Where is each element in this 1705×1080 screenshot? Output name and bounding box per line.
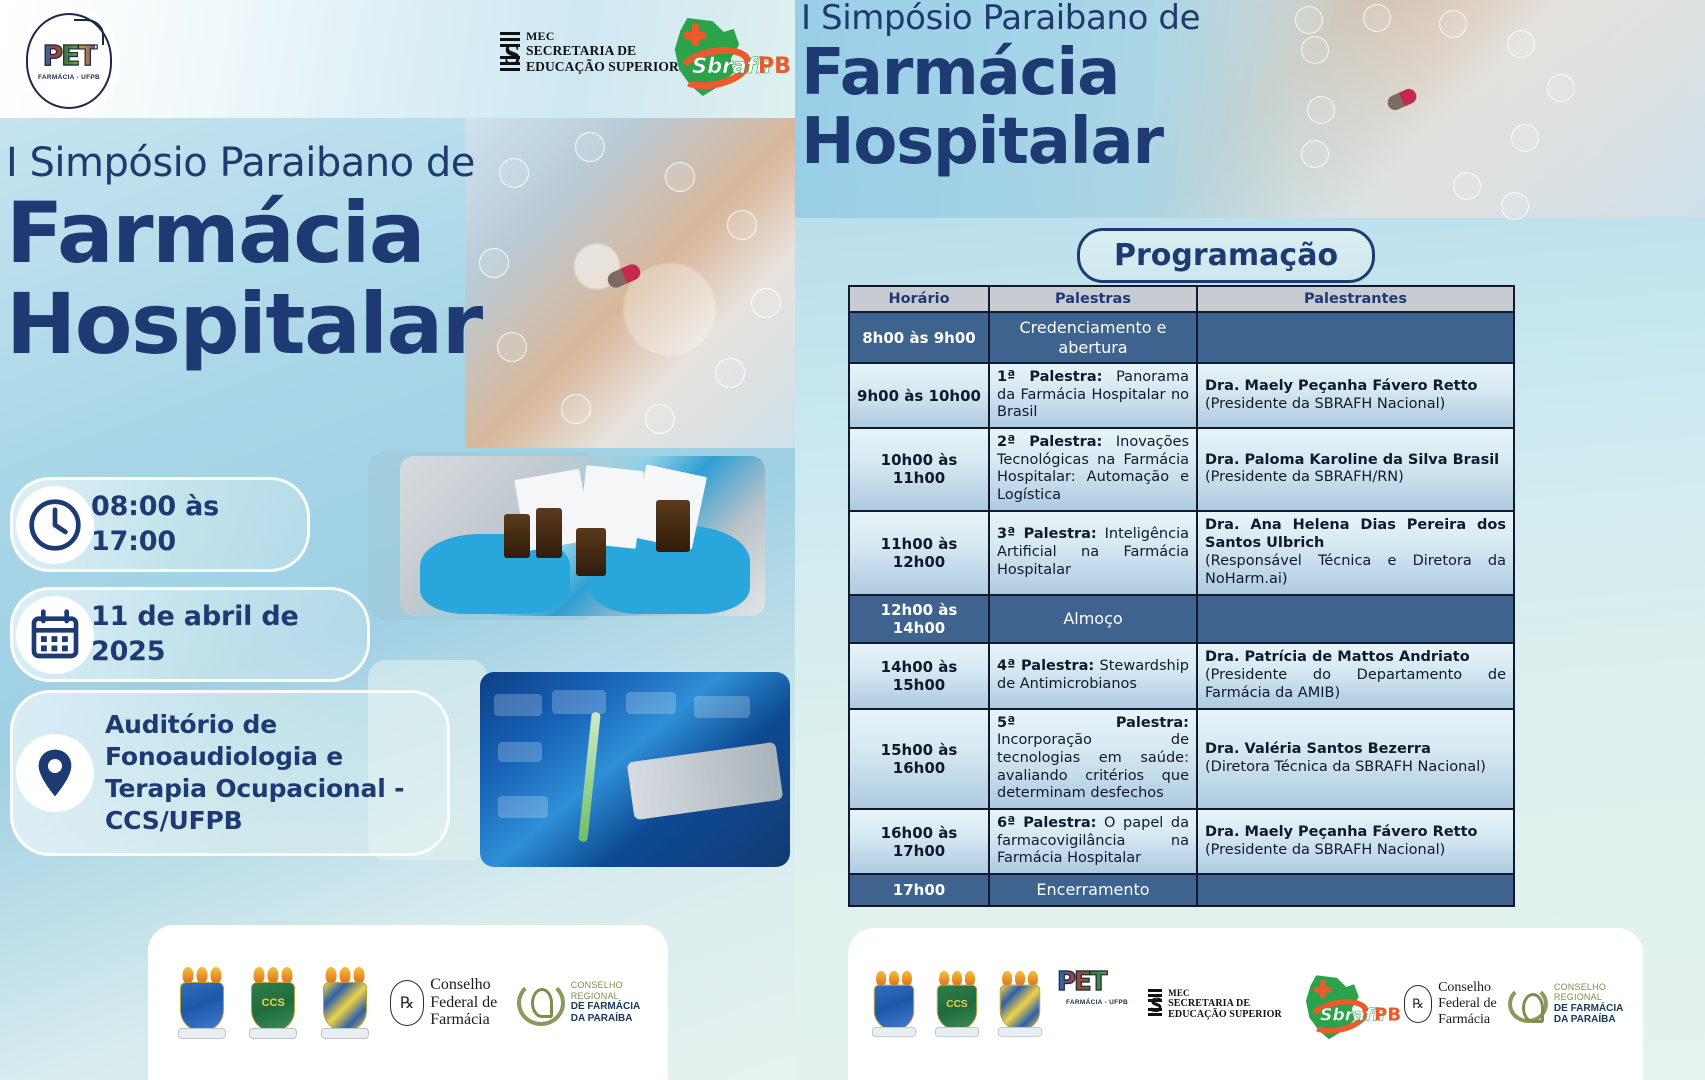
lecture-prefix: 6ª Palestra: <box>997 815 1096 831</box>
event-title-line2: Hospitalar <box>6 281 560 368</box>
cell-lecture: 5ª Palestra: Incorporação de tecnologias… <box>989 709 1197 809</box>
left-footer-logo-bar: ℞ Conselho Federal de Farmácia CONSELHO … <box>148 925 668 1080</box>
cell-lecture: 6ª Palestra: O papel da farmacovigilânci… <box>989 809 1197 874</box>
cell-speaker <box>1197 595 1514 643</box>
mec-logo: S MEC SECRETARIA DE EDUCAÇÃO SUPERIOR <box>500 30 679 74</box>
info-card-date: 11 de abril de 2025 <box>10 587 370 682</box>
mec-line-2: SECRETARIA DE <box>1168 998 1282 1009</box>
table-row: 14h00 às 15h00 4ª Palestra: Stewardship … <box>849 643 1514 709</box>
lecture-prefix: 2ª Palestra: <box>997 434 1102 450</box>
cff-line-1: Conselho <box>430 976 497 994</box>
cell-speaker: Dra. Ana Helena Dias Pereira dos Santos … <box>1197 511 1514 595</box>
sbrafh-suffix: PB <box>1374 1005 1401 1026</box>
event-title-line2: Hospitalar <box>801 109 1331 176</box>
conselho-federal-farmacia-logo: ℞ Conselho Federal de Farmácia <box>1404 980 1497 1027</box>
table-row: 15h00 às 16h00 5ª Palestra: Incorporação… <box>849 709 1514 809</box>
programacao-badge-label: Programação <box>1114 238 1338 273</box>
cell-lecture: 4ª Palestra: Stewardship de Antimicrobia… <box>989 643 1197 709</box>
cell-time: 8h00 às 9h00 <box>849 312 989 363</box>
syringe-icon <box>578 712 601 842</box>
cell-speaker: Dra. Patrícia de Mattos Andriato(Preside… <box>1197 643 1514 709</box>
event-title-line1: Farmácia <box>801 40 1331 107</box>
cell-time: 10h00 às 11h00 <box>849 428 989 511</box>
mec-mark-icon: S <box>1148 989 1162 1019</box>
mec-line-2: SECRETARIA DE <box>526 43 679 58</box>
crf-line-4: DA PARAÍBA <box>571 1013 640 1025</box>
cell-lecture: 2ª Palestra: Inovações Tecnológicas na F… <box>989 428 1197 511</box>
cell-time: 12h00 às 14h00 <box>849 595 989 643</box>
pet-swoosh-icon <box>74 19 104 45</box>
right-footer-logo-bar: PET FARMÁCIA - UFPB S MEC SECRETARIA DE … <box>848 928 1643 1080</box>
event-time-text: 08:00 às 17:00 <box>91 490 277 559</box>
event-pretitle: I Simpósio Paraibano de <box>6 140 560 186</box>
pill-icon <box>1385 87 1419 113</box>
lecture-prefix: 1ª Palestra: <box>997 369 1102 385</box>
table-row: 12h00 às 14h00 Almoço <box>849 595 1514 643</box>
crf-text: CONSELHO REGIONAL DE FARMÁCIA DA PARAÍBA <box>571 980 640 1024</box>
crf-pb-logo: CONSELHO REGIONAL DE FARMÁCIA DA PARAÍBA <box>1508 982 1623 1026</box>
programacao-badge: Programação <box>1077 228 1375 283</box>
sbrafh-suffix: PB <box>758 54 791 79</box>
event-location-text: Auditório de Fonoaudiologia e Terapia Oc… <box>105 709 423 837</box>
mec-line-3: EDUCAÇÃO SUPERIOR <box>526 59 679 74</box>
mec-line-1: MEC <box>526 30 679 43</box>
lecture-text: Incorporação de tecnologias em saúde: av… <box>997 732 1189 801</box>
ufpb-crest-icon <box>176 967 228 1039</box>
cff-line-2: Federal de <box>430 994 497 1012</box>
cell-lecture: Almoço <box>989 595 1197 643</box>
speaker-name: Dra. Paloma Karoline da Silva Brasil <box>1205 452 1506 470</box>
table-row: 8h00 às 9h00 Credenciamento e abertura <box>849 312 1514 363</box>
cell-speaker: Dra. Paloma Karoline da Silva Brasil(Pre… <box>1197 428 1514 511</box>
table-row: 17h00 Encerramento <box>849 874 1514 906</box>
crf-line-3: DE FARMÁCIA <box>571 1001 640 1013</box>
robot-arm-icon <box>627 742 784 820</box>
cff-text: Conselho Federal de Farmácia <box>430 976 497 1030</box>
speaker-role: (Presidente da SBRAFH Nacional) <box>1205 842 1506 860</box>
schedule-table: Horário Palestras Palestrantes 8h00 às 9… <box>848 285 1515 907</box>
speaker-role: (Presidente da SBRAFH/RN) <box>1205 469 1506 487</box>
pet-logo-oval: PET FARMÁCIA - UFPB <box>26 13 112 109</box>
event-title-line1: Farmácia <box>6 190 560 277</box>
table-header-row: Horário Palestras Palestrantes <box>849 286 1514 312</box>
crf-pb-logo: CONSELHO REGIONAL DE FARMÁCIA DA PARAÍBA <box>517 980 640 1026</box>
cff-mark-icon: ℞ <box>1404 985 1432 1023</box>
event-pretitle: I Simpósio Paraibano de <box>801 0 1331 38</box>
crf-line-1: CONSELHO <box>1554 982 1623 992</box>
cff-line-1: Conselho <box>1438 980 1497 996</box>
crf-wreath-icon <box>517 980 565 1026</box>
speaker-role: (Presidente da SBRAFH Nacional) <box>1205 396 1506 414</box>
column-header-palestras: Palestras <box>989 286 1197 312</box>
schedule-table-body: 8h00 às 9h00 Credenciamento e abertura 9… <box>849 312 1514 906</box>
crf-line-2: REGIONAL <box>571 991 640 1001</box>
cell-time: 16h00 às 17h00 <box>849 809 989 874</box>
cell-lecture: 3ª Palestra: Inteligência Artificial na … <box>989 511 1197 595</box>
column-header-palestrantes: Palestrantes <box>1197 286 1514 312</box>
lecture-prefix: 3ª Palestra: <box>997 526 1097 542</box>
mec-line-3: EDUCAÇÃO SUPERIOR <box>1168 1009 1282 1020</box>
poster-canvas: PET FARMÁCIA - UFPB S MEC SECRETARIA DE … <box>0 0 1705 1080</box>
speaker-name: Dra. Maely Peçanha Fávero Retto <box>1205 378 1506 396</box>
sbrafh-cross-icon <box>684 24 706 46</box>
cell-lecture: Credenciamento e abertura <box>989 312 1197 363</box>
farmacia-crest-icon <box>319 967 371 1039</box>
location-pin-icon <box>16 734 94 812</box>
crf-line-3: DE FARMÁCIA <box>1554 1003 1623 1015</box>
ufpb-crest-icon <box>870 971 918 1037</box>
cell-lecture: 1ª Palestra: Panorama da Farmácia Hospit… <box>989 363 1197 428</box>
cell-time: 14h00 às 15h00 <box>849 643 989 709</box>
table-row: 16h00 às 17h00 6ª Palestra: O papel da f… <box>849 809 1514 874</box>
right-title-block: I Simpósio Paraibano de Farmácia Hospita… <box>801 0 1331 176</box>
speaker-name: Dra. Valéria Santos Bezerra <box>1205 741 1506 759</box>
cff-line-3: Farmácia <box>430 1011 497 1029</box>
event-date-text: 11 de abril de 2025 <box>91 600 337 669</box>
mec-mark-icon: S <box>500 32 520 72</box>
speaker-name: Dra. Maely Peçanha Fávero Retto <box>1205 824 1506 842</box>
sbrafh-logo: Sbrafh PB <box>1302 975 1384 1032</box>
cell-time: 15h00 às 16h00 <box>849 709 989 809</box>
cff-mark-icon: ℞ <box>390 980 424 1026</box>
table-row: 11h00 às 12h00 3ª Palestra: Inteligência… <box>849 511 1514 595</box>
lab-robot-photo <box>480 672 790 867</box>
crf-text: CONSELHO REGIONAL DE FARMÁCIA DA PARAÍBA <box>1554 982 1623 1026</box>
cell-speaker <box>1197 312 1514 363</box>
crf-wreath-icon <box>1508 985 1548 1023</box>
right-poster-panel: I Simpósio Paraibano de Farmácia Hospita… <box>795 0 1705 1080</box>
mec-line-1: MEC <box>1168 988 1282 998</box>
mec-logo-text: MEC SECRETARIA DE EDUCAÇÃO SUPERIOR <box>1168 988 1282 1020</box>
cell-speaker <box>1197 874 1514 906</box>
pet-logo-word: PET <box>1057 969 1137 995</box>
pet-logo-word: PET <box>43 42 96 70</box>
speaker-name: Dra. Patrícia de Mattos Andriato <box>1205 649 1506 667</box>
cell-time: 11h00 às 12h00 <box>849 511 989 595</box>
lecture-prefix: 5ª Palestra: <box>997 715 1189 731</box>
mec-logo: S MEC SECRETARIA DE EDUCAÇÃO SUPERIOR <box>1148 988 1282 1020</box>
table-row: 9h00 às 10h00 1ª Palestra: Panorama da F… <box>849 363 1514 428</box>
sbrafh-cross-icon <box>1313 980 1331 998</box>
column-header-horario: Horário <box>849 286 989 312</box>
cff-line-3: Farmácia <box>1438 1012 1497 1028</box>
table-row: 10h00 às 11h00 2ª Palestra: Inovações Te… <box>849 428 1514 511</box>
left-poster-panel: PET FARMÁCIA - UFPB S MEC SECRETARIA DE … <box>0 0 795 1080</box>
lecture-prefix: 4ª Palestra: <box>997 658 1094 674</box>
cell-time: 9h00 às 10h00 <box>849 363 989 428</box>
pill-icon <box>605 262 643 290</box>
pet-logo: PET FARMÁCIA - UFPB <box>1057 969 1137 1039</box>
info-card-location: Auditório de Fonoaudiologia e Terapia Oc… <box>10 690 450 856</box>
crf-line-2: REGIONAL <box>1554 992 1623 1002</box>
cff-text: Conselho Federal de Farmácia <box>1438 980 1497 1027</box>
info-card-time: 08:00 às 17:00 <box>10 477 310 572</box>
sbrafh-logo: Sbrafh PB <box>670 18 790 100</box>
vials-photo <box>400 456 765 616</box>
clock-icon <box>16 486 94 564</box>
left-title-block: I Simpósio Paraibano de Farmácia Hospita… <box>0 140 560 367</box>
conselho-federal-farmacia-logo: ℞ Conselho Federal de Farmácia <box>390 976 497 1030</box>
cell-time: 17h00 <box>849 874 989 906</box>
speaker-role: (Responsável Técnica e Diretora da NoHar… <box>1205 553 1506 589</box>
farmacia-crest-icon <box>996 971 1044 1037</box>
mec-logo-text: MEC SECRETARIA DE EDUCAÇÃO SUPERIOR <box>526 30 679 74</box>
pet-logo-sub: FARMÁCIA - UFPB <box>1057 999 1137 1006</box>
cell-lecture: Encerramento <box>989 874 1197 906</box>
cell-speaker: Dra. Maely Peçanha Fávero Retto(Presiden… <box>1197 809 1514 874</box>
cff-line-2: Federal de <box>1438 996 1497 1012</box>
speaker-role: (Diretora Técnica da SBRAFH Nacional) <box>1205 759 1506 777</box>
pet-logo-sub: FARMÁCIA - UFPB <box>38 74 100 81</box>
crf-line-4: DA PARAÍBA <box>1554 1014 1623 1026</box>
calendar-icon <box>16 596 94 674</box>
speaker-role: (Presidente do Departamento de Farmácia … <box>1205 667 1506 703</box>
crf-line-1: CONSELHO <box>571 980 640 990</box>
ccs-crest-icon <box>933 971 981 1037</box>
pet-logo: PET FARMÁCIA - UFPB <box>18 6 120 116</box>
speaker-name: Dra. Ana Helena Dias Pereira dos Santos … <box>1205 517 1506 553</box>
ccs-crest-icon <box>247 967 299 1039</box>
cell-speaker: Dra. Valéria Santos Bezerra(Diretora Téc… <box>1197 709 1514 809</box>
cell-speaker: Dra. Maely Peçanha Fávero Retto(Presiden… <box>1197 363 1514 428</box>
